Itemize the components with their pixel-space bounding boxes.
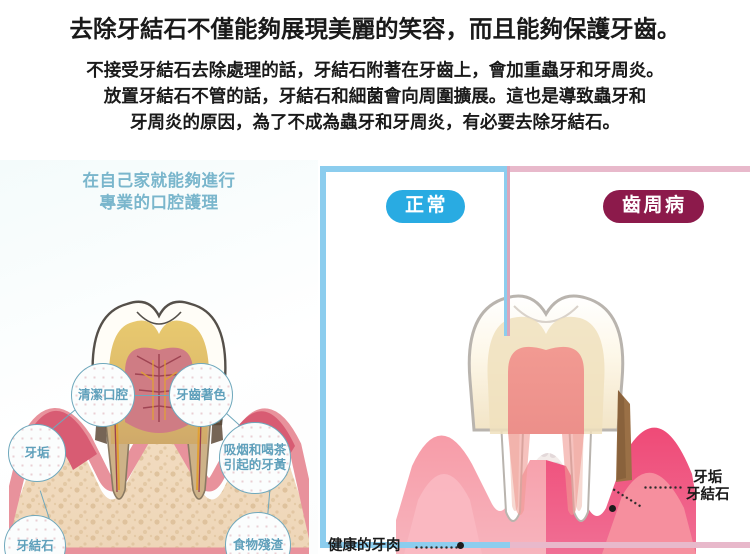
status-badge-normal: 正常 xyxy=(386,190,465,223)
bubble-label-plaque: 牙垢 xyxy=(24,446,49,461)
leader-healthy-gum xyxy=(414,546,458,549)
bubble-smoke-tea[interactable]: 吸烟和喝茶 引起的牙黃 xyxy=(219,422,291,494)
callout-plaque-line-1: 牙垢 xyxy=(686,470,730,487)
body-line-1: 不接受牙結石去除處理的話，牙結石附著在牙齒上，會加重蟲牙和牙周炎。 xyxy=(0,58,750,84)
bubble-label-food-debris: 食物殘渣 xyxy=(233,538,283,553)
frame-divider-pink xyxy=(507,166,510,336)
bubble-label-clean-mouth: 清潔口腔 xyxy=(78,388,128,403)
page-title: 去除牙結石不僅能夠展現美麗的笑容，而且能夠保護牙齒。 xyxy=(0,14,750,46)
callout-plaque-calculus: 牙垢 牙結石 xyxy=(686,470,730,505)
left-diagram-panel: 在自己家就能夠進行 專業的口腔護理 xyxy=(0,160,318,554)
bubble-label-smoke-tea-line-2: 引起的牙黃 xyxy=(224,458,287,473)
figure-area: 在自己家就能夠進行 專業的口腔護理 xyxy=(0,160,750,554)
normal-side-frame xyxy=(320,166,510,548)
left-title-line-1: 在自己家就能夠進行 xyxy=(0,170,318,192)
left-panel-title: 在自己家就能夠進行 專業的口腔護理 xyxy=(0,170,318,215)
leader-dot-healthy-gum xyxy=(457,542,464,549)
right-comparison-panel: 正常 齒周病 xyxy=(318,160,750,554)
infographic-page: 去除牙結石不僅能夠展現美麗的笑容，而且能夠保護牙齒。 不接受牙結石去除處理的話，… xyxy=(0,0,750,554)
bubble-plaque[interactable]: 牙垢 xyxy=(8,424,66,482)
callout-healthy-gum: 健康的牙肉 xyxy=(328,538,401,554)
bubble-label-smoke-tea-line-1: 吸烟和喝茶 xyxy=(224,443,287,458)
bubble-clean-mouth[interactable]: 清潔口腔 xyxy=(71,363,135,427)
body-line-2: 放置牙結石不管的話，牙結石和細菌會向周圍擴展。這也是導致蟲牙和 xyxy=(0,84,750,110)
bubble-label-smoke-tea: 吸烟和喝茶 引起的牙黃 xyxy=(224,443,287,473)
leader-dot-plaque xyxy=(609,505,616,512)
callout-plaque-line-2: 牙結石 xyxy=(686,487,730,504)
left-title-line-2: 專業的口腔護理 xyxy=(0,192,318,214)
bubble-tooth-stain[interactable]: 牙齒著色 xyxy=(169,363,233,427)
bubble-label-tooth-stain: 牙齒著色 xyxy=(176,388,226,403)
heading-block: 去除牙結石不僅能夠展現美麗的笑容，而且能夠保護牙齒。 不接受牙結石去除處理的話，… xyxy=(0,0,750,135)
bubble-label-calculus: 牙結石 xyxy=(16,539,54,554)
status-badge-periodontitis: 齒周病 xyxy=(603,190,704,223)
leader-plaque-horizontal xyxy=(643,486,683,489)
body-copy: 不接受牙結石去除處理的話，牙結石附著在牙齒上，會加重蟲牙和牙周炎。 放置牙結石不… xyxy=(0,58,750,136)
body-line-3: 牙周炎的原因，為了不成為蟲牙和牙周炎，有必要去除牙結石。 xyxy=(0,110,750,136)
